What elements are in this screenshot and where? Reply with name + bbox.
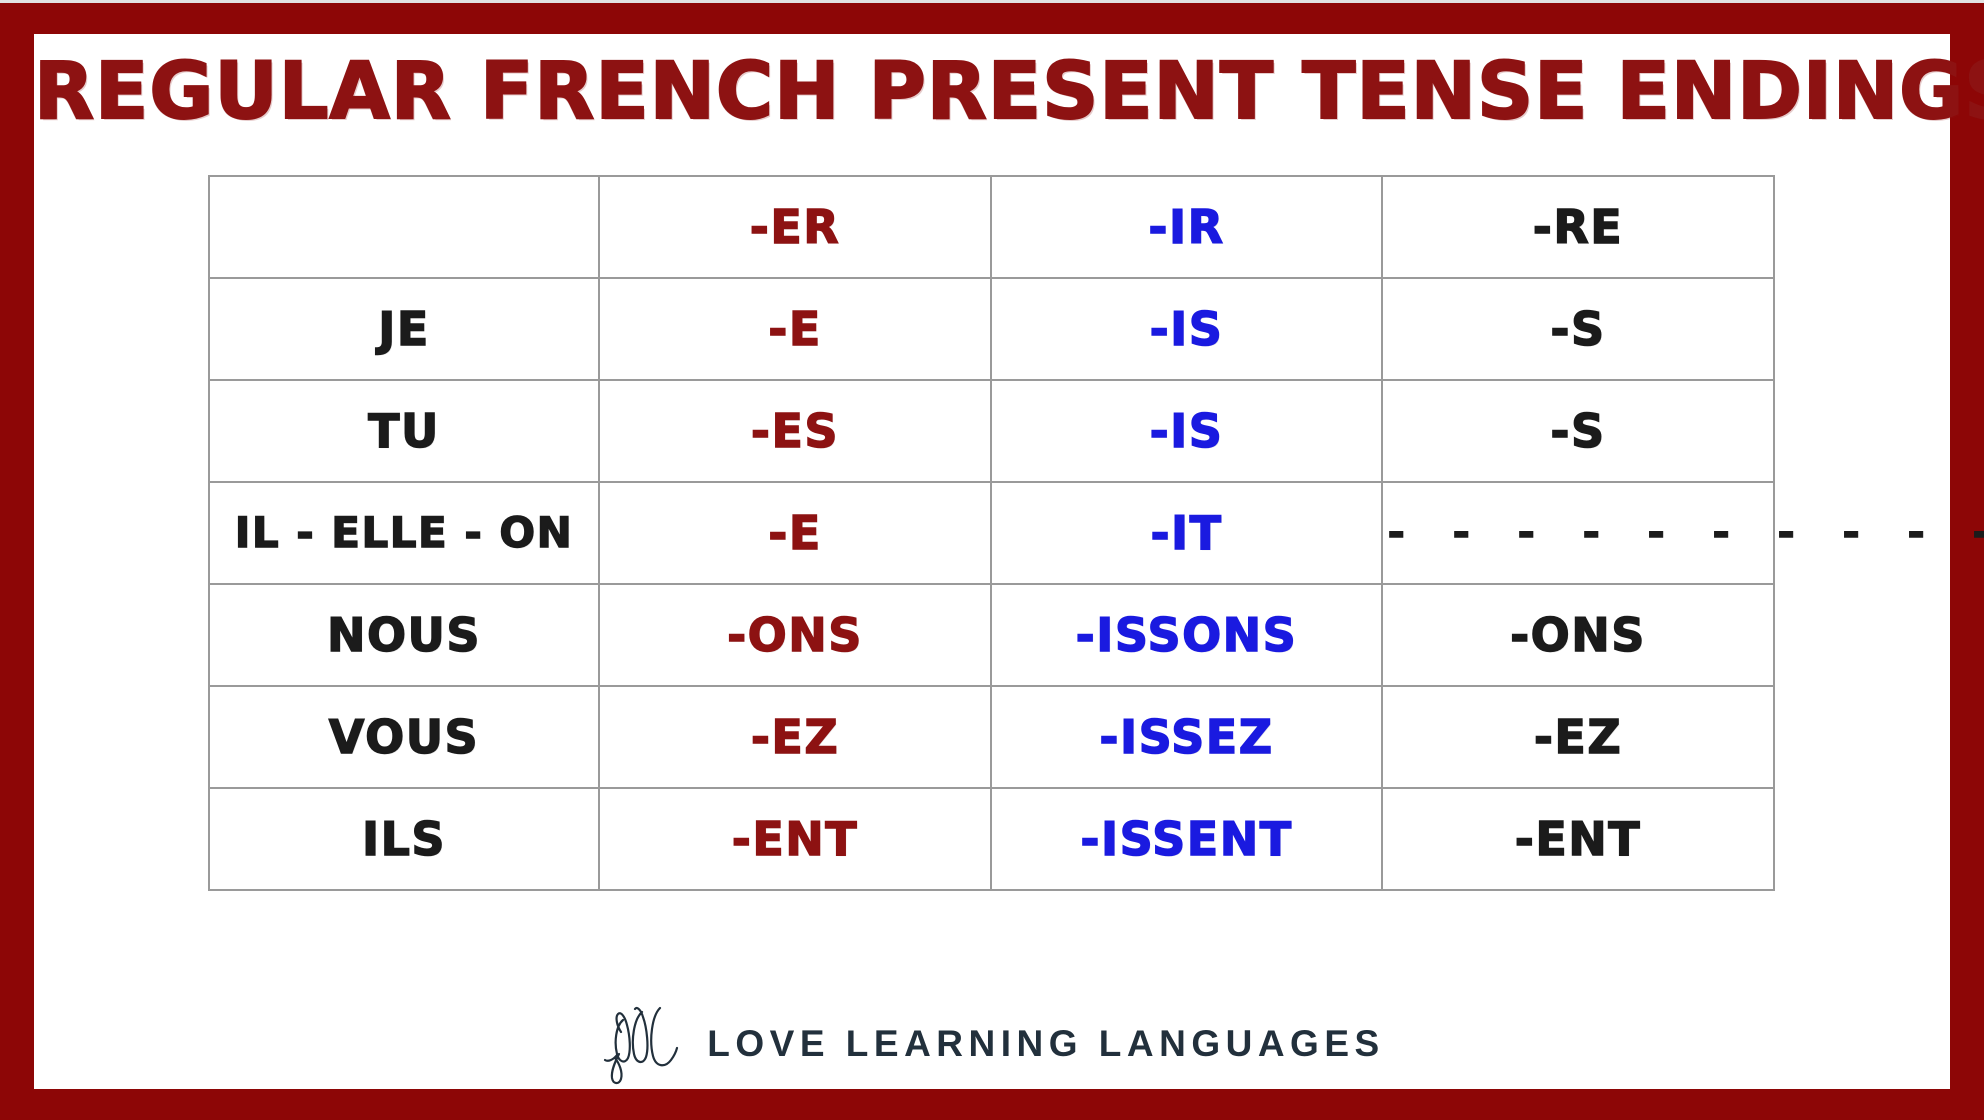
ending-cell-er-vous: -EZ xyxy=(599,686,991,788)
ending-value: -IS xyxy=(1150,404,1224,458)
table-row: JE -E -IS -S xyxy=(209,278,1774,380)
table-header-row: -ER -IR -RE xyxy=(209,176,1774,278)
ending-value: -ONS xyxy=(727,608,863,662)
brand-name: LOVE LEARNING LANGUAGES xyxy=(707,1023,1384,1065)
no-ending-dashes: - - - - - - - - - - - - - xyxy=(1383,508,1984,558)
endings-table: -ER -IR -RE JE -E xyxy=(208,175,1775,891)
ending-cell-re-tu: -S xyxy=(1382,380,1774,482)
ending-value: -ENT xyxy=(732,812,858,866)
ending-cell-re-ils: -ENT xyxy=(1382,788,1774,890)
ending-value: -E xyxy=(768,302,822,356)
lll-script-monogram-icon xyxy=(599,998,685,1090)
ending-cell-re-il: - - - - - - - - - - - - - xyxy=(1382,482,1774,584)
pronoun-cell-je: JE xyxy=(209,278,599,380)
pronoun-cell-ils: ILS xyxy=(209,788,599,890)
ending-cell-er-il: -E xyxy=(599,482,991,584)
column-header-re-label: -RE xyxy=(1533,200,1623,254)
ending-cell-ir-vous: -ISSEZ xyxy=(991,686,1382,788)
pronoun-cell-il-elle-on: IL - ELLE - ON xyxy=(209,482,599,584)
ending-cell-re-nous: -ONS xyxy=(1382,584,1774,686)
ending-cell-er-ils: -ENT xyxy=(599,788,991,890)
ending-cell-ir-nous: -ISSONS xyxy=(991,584,1382,686)
poster-inner-area: REGULAR FRENCH PRESENT TENSE ENDINGS -ER xyxy=(34,34,1950,1089)
ending-cell-er-tu: -ES xyxy=(599,380,991,482)
table-row: TU -ES -IS -S xyxy=(209,380,1774,482)
ending-cell-ir-je: -IS xyxy=(991,278,1382,380)
ending-value: -IS xyxy=(1150,302,1224,356)
pronoun-cell-nous: NOUS xyxy=(209,584,599,686)
column-header-ir-label: -IR xyxy=(1148,200,1224,254)
pronoun-label: JE xyxy=(378,302,430,356)
pronoun-label: ILS xyxy=(362,812,446,866)
column-header-ir: -IR xyxy=(991,176,1382,278)
pronoun-cell-vous: VOUS xyxy=(209,686,599,788)
ending-value: -S xyxy=(1550,404,1605,458)
pronoun-label: VOUS xyxy=(329,710,479,764)
ending-value: -EZ xyxy=(1534,710,1622,764)
ending-value: -IT xyxy=(1150,506,1222,560)
ending-cell-er-je: -E xyxy=(599,278,991,380)
ending-value: -ES xyxy=(751,404,839,458)
column-header-er: -ER xyxy=(599,176,991,278)
ending-cell-er-nous: -ONS xyxy=(599,584,991,686)
pronoun-cell-tu: TU xyxy=(209,380,599,482)
ending-cell-ir-tu: -IS xyxy=(991,380,1382,482)
ending-value: -ISSONS xyxy=(1076,608,1298,662)
table-row: ILS -ENT -ISSENT -ENT xyxy=(209,788,1774,890)
ending-cell-re-vous: -EZ xyxy=(1382,686,1774,788)
ending-value: -S xyxy=(1550,302,1605,356)
page-title: REGULAR FRENCH PRESENT TENSE ENDINGS xyxy=(34,44,1950,140)
pronoun-label: TU xyxy=(368,404,440,458)
ending-value: -ISSEZ xyxy=(1099,710,1273,764)
footer-logo: LOVE LEARNING LANGUAGES xyxy=(34,989,1950,1099)
ending-cell-ir-ils: -ISSENT xyxy=(991,788,1382,890)
column-header-re: -RE xyxy=(1382,176,1774,278)
column-header-er-label: -ER xyxy=(750,200,840,254)
ending-cell-re-je: -S xyxy=(1382,278,1774,380)
ending-value: -ISSENT xyxy=(1080,812,1292,866)
poster-canvas: REGULAR FRENCH PRESENT TENSE ENDINGS -ER xyxy=(0,0,1984,1120)
ending-value: -ENT xyxy=(1515,812,1641,866)
ending-value: -EZ xyxy=(751,710,839,764)
table-corner-cell xyxy=(209,176,599,278)
red-border-frame: REGULAR FRENCH PRESENT TENSE ENDINGS -ER xyxy=(0,3,1984,1120)
pronoun-label: NOUS xyxy=(327,608,481,662)
table-row: IL - ELLE - ON -E -IT - - - - - - - - - … xyxy=(209,482,1774,584)
ending-value: -E xyxy=(768,506,822,560)
pronoun-label: IL - ELLE - ON xyxy=(235,506,574,560)
ending-cell-ir-il: -IT xyxy=(991,482,1382,584)
table-row: VOUS -EZ -ISSEZ -EZ xyxy=(209,686,1774,788)
ending-value: -ONS xyxy=(1510,608,1646,662)
table-row: NOUS -ONS -ISSONS -ONS xyxy=(209,584,1774,686)
